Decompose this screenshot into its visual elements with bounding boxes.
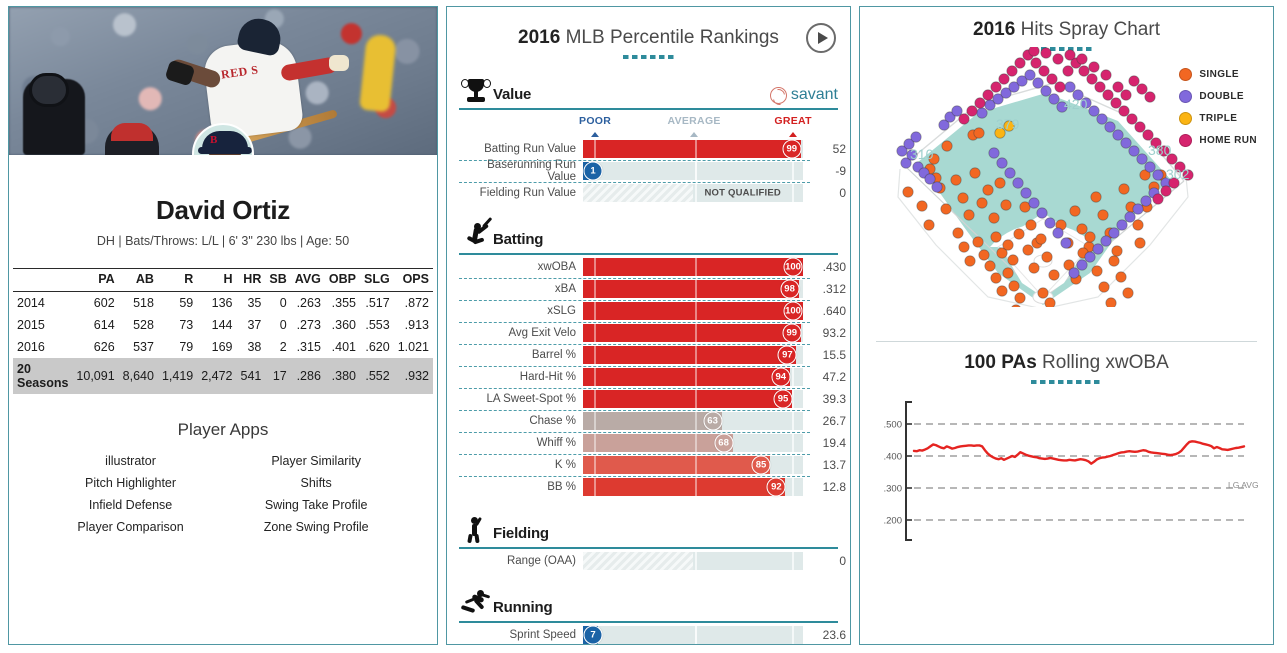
spray-point-home-run[interactable] xyxy=(1077,54,1087,64)
spray-point-home-run[interactable] xyxy=(991,82,1001,92)
spray-point-double[interactable] xyxy=(1141,196,1151,206)
spray-point-single[interactable] xyxy=(903,187,913,197)
table-row: 201561452873144370.273.360.553.913 xyxy=(13,314,433,336)
stats-cell: .553 xyxy=(360,314,394,336)
percentile-bubble: 85 xyxy=(752,456,771,475)
percentile-fill xyxy=(583,478,785,496)
spray-point-single[interactable] xyxy=(997,286,1007,296)
spray-point-double[interactable] xyxy=(1021,188,1031,198)
section-title: Running xyxy=(493,599,552,618)
spray-title-year: 2016 xyxy=(973,19,1015,40)
spray-point-single[interactable] xyxy=(974,128,984,138)
metric-value: 93.2 xyxy=(803,326,849,340)
rolling-xwoba-svg[interactable]: .500.400.300.200 LG AVG xyxy=(876,396,1266,546)
percentile-row[interactable]: xSLG100.640 xyxy=(459,300,838,322)
player-apps-left-column: illustratorPitch HighlighterInfield Defe… xyxy=(77,450,183,538)
spray-point-single[interactable] xyxy=(1003,240,1013,250)
metric-label: xBA xyxy=(459,283,583,295)
player-app-link[interactable]: Player Comparison xyxy=(77,516,183,538)
percentile-fill xyxy=(583,258,803,276)
spray-point-single[interactable] xyxy=(1003,268,1013,278)
batter-icon xyxy=(459,220,493,250)
spray-point-home-run[interactable] xyxy=(1111,98,1121,108)
spray-point-single[interactable] xyxy=(1099,282,1109,292)
percentile-track[interactable]: 92 xyxy=(583,478,803,496)
spray-point-single[interactable] xyxy=(1123,288,1133,298)
spray-point-double[interactable] xyxy=(1041,86,1051,96)
spray-point-single[interactable] xyxy=(959,242,969,252)
percentile-track[interactable]: 99 xyxy=(583,140,803,158)
player-app-link[interactable]: Pitch Highlighter xyxy=(77,472,183,494)
spray-point-single[interactable] xyxy=(951,175,961,185)
metric-label: xwOBA xyxy=(459,261,583,273)
percentile-track[interactable] xyxy=(583,552,803,570)
stats-cell: 0 xyxy=(265,292,290,315)
spray-point-single[interactable] xyxy=(941,204,951,214)
spray-point-single[interactable] xyxy=(985,261,995,271)
play-icon xyxy=(818,32,828,44)
track-segment xyxy=(792,478,794,496)
spray-point-double[interactable] xyxy=(911,132,921,142)
savant-logo: savant xyxy=(770,86,838,105)
spray-point-double[interactable] xyxy=(1125,212,1135,222)
player-app-link[interactable]: illustrator xyxy=(77,450,183,472)
spray-point-home-run[interactable] xyxy=(1145,92,1155,102)
percentile-track[interactable]: 98 xyxy=(583,280,803,298)
player-app-link[interactable]: Player Similarity xyxy=(264,450,369,472)
percentile-bubble: 99 xyxy=(782,140,801,159)
legend-item[interactable]: TRIPLE xyxy=(1179,107,1257,129)
stats-col-H: H xyxy=(197,269,236,292)
spray-point-home-run[interactable] xyxy=(1079,66,1089,76)
stats-cell: 169 xyxy=(197,336,236,358)
spray-point-double[interactable] xyxy=(1029,198,1039,208)
percentile-row[interactable]: Batting Run Value9952 xyxy=(459,138,838,160)
legend-item[interactable]: HOME RUN xyxy=(1179,129,1257,151)
track-segment xyxy=(792,552,794,570)
spray-point-double[interactable] xyxy=(989,148,999,158)
track-segment xyxy=(792,368,794,386)
spray-point-home-run[interactable] xyxy=(959,114,969,124)
metric-value: 13.7 xyxy=(803,458,849,472)
track-segment xyxy=(594,258,596,276)
spray-point-single[interactable] xyxy=(1011,305,1021,307)
percentile-track[interactable]: 100 xyxy=(583,302,803,320)
spray-point-single[interactable] xyxy=(983,185,993,195)
spray-point-single[interactable] xyxy=(1008,255,1018,265)
avatar-team-logo: B xyxy=(210,134,217,146)
stats-col-AB: AB xyxy=(119,269,158,292)
percentile-track[interactable]: 63 xyxy=(583,412,803,430)
spray-point-single[interactable] xyxy=(979,250,989,260)
stats-col-HR: HR xyxy=(237,269,266,292)
percentile-track[interactable]: 1 xyxy=(583,162,803,180)
percentile-title-rest: MLB Percentile Rankings xyxy=(566,27,779,48)
spray-point-double[interactable] xyxy=(1093,244,1103,254)
metric-label: xSLG xyxy=(459,305,583,317)
spray-point-double[interactable] xyxy=(1133,204,1143,214)
spray-chart-svg[interactable]: 310379420380302 xyxy=(878,47,1208,307)
spray-point-double[interactable] xyxy=(1137,154,1147,164)
spray-point-single[interactable] xyxy=(965,256,975,266)
spray-point-double[interactable] xyxy=(1069,268,1079,278)
y-tick-label: .200 xyxy=(884,516,903,527)
track-segment xyxy=(695,434,697,452)
stats-cell: 626 xyxy=(72,336,118,358)
spray-point-home-run[interactable] xyxy=(1053,54,1063,64)
spray-point-single[interactable] xyxy=(1135,238,1145,248)
spray-point-home-run[interactable] xyxy=(1129,76,1139,86)
scale-marker-avg xyxy=(690,132,698,137)
track-segment xyxy=(792,184,794,202)
spray-point-home-run[interactable] xyxy=(1063,66,1073,76)
spray-point-home-run[interactable] xyxy=(1161,186,1171,196)
spray-point-double[interactable] xyxy=(1145,162,1155,172)
stats-cell: 37 xyxy=(237,314,266,336)
spray-point-single[interactable] xyxy=(1045,298,1055,307)
spray-point-home-run[interactable] xyxy=(1089,62,1099,72)
stats-cell: 38 xyxy=(237,336,266,358)
table-row: 201662653779169382.315.401.6201.021 xyxy=(13,336,433,358)
spray-point-double[interactable] xyxy=(1085,252,1095,262)
spray-point-home-run[interactable] xyxy=(1121,90,1131,100)
track-segment xyxy=(695,390,697,408)
spray-point-single[interactable] xyxy=(1077,224,1087,234)
metric-value: .430 xyxy=(803,260,849,274)
metric-label: Fielding Run Value xyxy=(459,187,583,199)
legend-item[interactable]: DOUBLE xyxy=(1179,85,1257,107)
spray-point-home-run[interactable] xyxy=(999,74,1009,84)
spray-point-single[interactable] xyxy=(1106,298,1116,307)
spray-point-double[interactable] xyxy=(1025,70,1035,80)
metric-label: Barrel % xyxy=(459,349,583,361)
spray-point-single[interactable] xyxy=(1091,192,1101,202)
spray-point-single[interactable] xyxy=(1049,270,1059,280)
percentile-row[interactable]: Fielding Run ValueNOT QUALIFIED0 xyxy=(459,182,838,204)
spray-point-single[interactable] xyxy=(1036,234,1046,244)
legend-color-dot xyxy=(1179,68,1192,81)
track-segment xyxy=(695,456,697,474)
spray-point-double[interactable] xyxy=(1097,114,1107,124)
spray-point-single[interactable] xyxy=(1092,266,1102,276)
stats-cell: 1,419 xyxy=(158,358,197,394)
percentile-row[interactable]: Hard-Hit %9447.2 xyxy=(459,366,838,388)
rolling-xwoba-line xyxy=(914,441,1244,463)
percentile-row[interactable]: Sprint Speed723.6 xyxy=(459,624,838,646)
track-segment xyxy=(695,162,697,180)
spray-point-home-run[interactable] xyxy=(1095,82,1105,92)
percentile-track[interactable]: 97 xyxy=(583,346,803,364)
section-title: Fielding xyxy=(493,525,549,544)
rolling-y-tick-labels: .500.400.300.200 xyxy=(884,420,913,527)
track-segment xyxy=(695,412,697,430)
percentile-title-year: 2016 xyxy=(518,27,560,48)
spray-point-double[interactable] xyxy=(1045,218,1055,228)
metric-label: Whiff % xyxy=(459,437,583,449)
spray-point-single[interactable] xyxy=(991,273,1001,283)
stats-col-AVG: AVG xyxy=(291,269,325,292)
percentile-track[interactable]: 95 xyxy=(583,390,803,408)
section-title: Value xyxy=(493,86,531,105)
stats-cell: 79 xyxy=(158,336,197,358)
spray-point-home-run[interactable] xyxy=(1113,82,1123,92)
section-header-fielding: Fielding xyxy=(459,514,838,549)
percentile-track[interactable]: NOT QUALIFIED xyxy=(583,184,803,202)
legend-item[interactable]: SINGLE xyxy=(1179,63,1257,85)
spray-point-double[interactable] xyxy=(1129,146,1139,156)
percentile-fill xyxy=(583,434,733,452)
spray-point-single[interactable] xyxy=(964,210,974,220)
stats-cell: .273 xyxy=(291,314,325,336)
track-segment xyxy=(792,162,794,180)
metric-label: Range (OAA) xyxy=(459,555,583,567)
percentile-fill xyxy=(583,140,801,158)
track-segment xyxy=(594,346,596,364)
stats-cell: 614 xyxy=(72,314,118,336)
spray-point-home-run[interactable] xyxy=(1127,114,1137,124)
legend-color-dot xyxy=(1179,134,1192,147)
spray-point-single[interactable] xyxy=(917,201,927,211)
metric-label: LA Sweet-Spot % xyxy=(459,393,583,405)
spray-point-double[interactable] xyxy=(1037,208,1047,218)
spray-point-double[interactable] xyxy=(1033,78,1043,88)
percentile-row[interactable]: Baserunning Run Value1-9 xyxy=(459,160,838,182)
fielder-icon xyxy=(459,514,493,544)
percentile-rows-running: Sprint Speed723.6 xyxy=(459,624,838,646)
spray-point-single[interactable] xyxy=(953,228,963,238)
stats-cell: .517 xyxy=(360,292,394,315)
spray-point-double[interactable] xyxy=(1113,130,1123,140)
spray-point-home-run[interactable] xyxy=(1041,48,1051,58)
track-segment xyxy=(594,368,596,386)
percentile-bubble: 63 xyxy=(703,412,722,431)
spray-point-home-run[interactable] xyxy=(1143,130,1153,140)
stats-cell: 602 xyxy=(72,292,118,315)
section-title: Batting xyxy=(493,231,543,250)
lg-avg-label: LG AVG xyxy=(1228,480,1259,490)
stats-col-OBP: OBP xyxy=(325,269,360,292)
percentile-row[interactable]: xwOBA100.430 xyxy=(459,256,838,278)
track-segment xyxy=(695,258,697,276)
spray-point-single[interactable] xyxy=(1070,206,1080,216)
stats-cell: .360 xyxy=(325,314,360,336)
spray-point-single[interactable] xyxy=(1015,293,1025,303)
percentile-track[interactable]: 99 xyxy=(583,324,803,342)
metric-value: 23.6 xyxy=(803,628,849,642)
stats-col-OPS: OPS xyxy=(394,269,433,292)
track-segment xyxy=(695,552,697,570)
spray-point-single[interactable] xyxy=(1112,246,1122,256)
percentile-fill xyxy=(583,456,770,474)
metric-value: 26.7 xyxy=(803,414,849,428)
table-row: 201460251859136350.263.355.517.872 xyxy=(13,292,433,315)
table-header-row: PAABRHHRSBAVGOBPSLGOPS xyxy=(13,269,433,292)
percentile-fill xyxy=(583,324,801,342)
track-segment xyxy=(594,434,596,452)
metric-value: 12.8 xyxy=(803,480,849,494)
percentile-bubble: 100 xyxy=(784,258,803,277)
metric-value: 0 xyxy=(803,554,849,568)
spray-point-double[interactable] xyxy=(1065,82,1075,92)
spray-point-home-run[interactable] xyxy=(1031,58,1041,68)
spray-point-home-run[interactable] xyxy=(1101,70,1111,80)
distance-marker: 310 xyxy=(910,146,934,162)
percentile-row[interactable]: Chase %6326.7 xyxy=(459,410,838,432)
percentile-fill xyxy=(583,390,792,408)
spray-point-double[interactable] xyxy=(1077,260,1087,270)
spray-point-single[interactable] xyxy=(1116,272,1126,282)
percentile-row[interactable]: Avg Exit Velo9993.2 xyxy=(459,322,838,344)
percentile-row[interactable]: LA Sweet-Spot %9539.3 xyxy=(459,388,838,410)
spray-point-single[interactable] xyxy=(924,220,934,230)
stats-cell: .286 xyxy=(291,358,325,394)
spray-point-single[interactable] xyxy=(942,141,952,151)
track-segment xyxy=(792,456,794,474)
spray-point-double[interactable] xyxy=(1105,122,1115,132)
percentile-bubble: 100 xyxy=(784,302,803,321)
player-app-link[interactable]: Zone Swing Profile xyxy=(264,516,369,538)
spray-point-home-run[interactable] xyxy=(1087,74,1097,84)
spray-point-home-run[interactable] xyxy=(1047,74,1057,84)
spray-point-double[interactable] xyxy=(1053,228,1063,238)
stats-season-label: 2015 xyxy=(13,314,72,336)
legend-label: DOUBLE xyxy=(1199,91,1244,102)
batting-glove xyxy=(329,55,349,71)
spray-point-single[interactable] xyxy=(973,237,983,247)
player-app-link[interactable]: Swing Take Profile xyxy=(264,494,369,516)
spray-point-home-run[interactable] xyxy=(1103,90,1113,100)
player-app-link[interactable]: Infield Defense xyxy=(77,494,183,516)
spray-point-double[interactable] xyxy=(1109,228,1119,238)
spray-point-double[interactable] xyxy=(1117,220,1127,230)
track-segment xyxy=(695,140,697,158)
spray-point-home-run[interactable] xyxy=(1039,66,1049,76)
distance-marker: 379 xyxy=(996,116,1020,132)
percentile-fill xyxy=(583,412,722,430)
percentile-track[interactable]: 68 xyxy=(583,434,803,452)
spray-point-double[interactable] xyxy=(1101,236,1111,246)
spray-point-single[interactable] xyxy=(958,193,968,203)
track-segment xyxy=(594,390,596,408)
percentile-track[interactable]: 94 xyxy=(583,368,803,386)
spray-point-single[interactable] xyxy=(989,213,999,223)
spray-point-single[interactable] xyxy=(1109,256,1119,266)
spray-point-home-run[interactable] xyxy=(1015,58,1025,68)
percentile-rows-value: Batting Run Value9952Baserunning Run Val… xyxy=(459,138,838,204)
spray-point-home-run[interactable] xyxy=(1135,122,1145,132)
spray-point-home-run[interactable] xyxy=(975,98,985,108)
spray-point-double[interactable] xyxy=(1061,238,1071,248)
metric-label: Hard-Hit % xyxy=(459,371,583,383)
percentile-row[interactable]: Whiff %6819.4 xyxy=(459,432,838,454)
spray-point-double[interactable] xyxy=(1049,94,1059,104)
spray-point-single[interactable] xyxy=(1098,210,1108,220)
spray-point-single[interactable] xyxy=(1014,229,1024,239)
percentile-track[interactable]: 100 xyxy=(583,258,803,276)
player-app-link[interactable]: Shifts xyxy=(264,472,369,494)
track-segment xyxy=(792,412,794,430)
spray-point-double[interactable] xyxy=(1089,106,1099,116)
spray-point-double[interactable] xyxy=(977,108,987,118)
spray-point-single[interactable] xyxy=(1023,245,1033,255)
stats-cell: .263 xyxy=(291,292,325,315)
percentile-rows-batting: xwOBA100.430xBA98.312xSLG100.640Avg Exit… xyxy=(459,256,838,498)
spray-point-home-run[interactable] xyxy=(983,90,993,100)
track-segment xyxy=(695,280,697,298)
stats-cell: 0 xyxy=(265,314,290,336)
spray-point-home-run[interactable] xyxy=(1119,106,1129,116)
catcher-helmet xyxy=(111,123,153,141)
spray-point-double[interactable] xyxy=(1153,170,1163,180)
spray-point-double[interactable] xyxy=(1121,138,1131,148)
spray-point-home-run[interactable] xyxy=(1029,47,1039,56)
spray-point-single[interactable] xyxy=(1038,288,1048,298)
spray-point-home-run[interactable] xyxy=(1065,50,1075,60)
metric-value: 0 xyxy=(803,186,849,200)
avatar-cap-brim xyxy=(198,147,252,154)
percentile-row[interactable]: K %8513.7 xyxy=(459,454,838,476)
spray-point-double[interactable] xyxy=(1013,178,1023,188)
stats-cell: 528 xyxy=(119,314,158,336)
stats-season-label: 2014 xyxy=(13,292,72,315)
percentile-track[interactable]: 7 xyxy=(583,626,803,644)
spray-point-home-run[interactable] xyxy=(1153,194,1163,204)
stats-col-season xyxy=(13,269,72,292)
spray-chart-wrap: 2016 Hits Spray Chart xyxy=(870,19,1263,339)
spray-point-single[interactable] xyxy=(1085,232,1095,242)
percentile-row[interactable]: Barrel %9715.5 xyxy=(459,344,838,366)
spray-point-single[interactable] xyxy=(1029,263,1039,273)
spray-point-single[interactable] xyxy=(1026,220,1036,230)
spray-point-single[interactable] xyxy=(991,232,1001,242)
track-segment xyxy=(594,478,596,496)
spray-point-home-run[interactable] xyxy=(1137,84,1147,94)
spray-point-home-run[interactable] xyxy=(967,106,977,116)
track-segment xyxy=(594,140,596,158)
stats-cell: .355 xyxy=(325,292,360,315)
spray-point-home-run[interactable] xyxy=(1055,82,1065,92)
track-segment xyxy=(594,412,596,430)
spray-point-single[interactable] xyxy=(1042,252,1052,262)
spray-point-single[interactable] xyxy=(1009,281,1019,291)
percentile-fill xyxy=(583,280,799,298)
spray-point-double[interactable] xyxy=(932,182,942,192)
metric-value: 39.3 xyxy=(803,392,849,406)
spray-point-single[interactable] xyxy=(1119,184,1129,194)
not-qualified-label: NOT QUALIFIED xyxy=(705,188,782,199)
player-apps-right-column: Player SimilarityShiftsSwing Take Profil… xyxy=(264,450,369,538)
spray-title-rest: Hits Spray Chart xyxy=(1021,19,1160,40)
stats-cell: 541 xyxy=(237,358,266,394)
percentile-rows-fielding: Range (OAA)0 xyxy=(459,550,838,572)
percentile-track[interactable]: 85 xyxy=(583,456,803,474)
spray-point-single[interactable] xyxy=(970,168,980,178)
spray-point-single[interactable] xyxy=(1001,200,1011,210)
percentile-row[interactable]: BB %9212.8 xyxy=(459,476,838,498)
play-button[interactable] xyxy=(806,23,836,53)
percentile-row[interactable]: xBA98.312 xyxy=(459,278,838,300)
spray-point-single[interactable] xyxy=(995,178,1005,188)
umpire-mask-icon xyxy=(29,73,69,107)
spray-point-single[interactable] xyxy=(977,198,987,208)
spray-point-double[interactable] xyxy=(1005,168,1015,178)
stats-cell: .932 xyxy=(394,358,433,394)
spray-point-single[interactable] xyxy=(1133,220,1143,230)
stats-col-SLG: SLG xyxy=(360,269,394,292)
spray-point-double[interactable] xyxy=(997,158,1007,168)
spray-point-home-run[interactable] xyxy=(1007,66,1017,76)
percentile-row[interactable]: Range (OAA)0 xyxy=(459,550,838,572)
